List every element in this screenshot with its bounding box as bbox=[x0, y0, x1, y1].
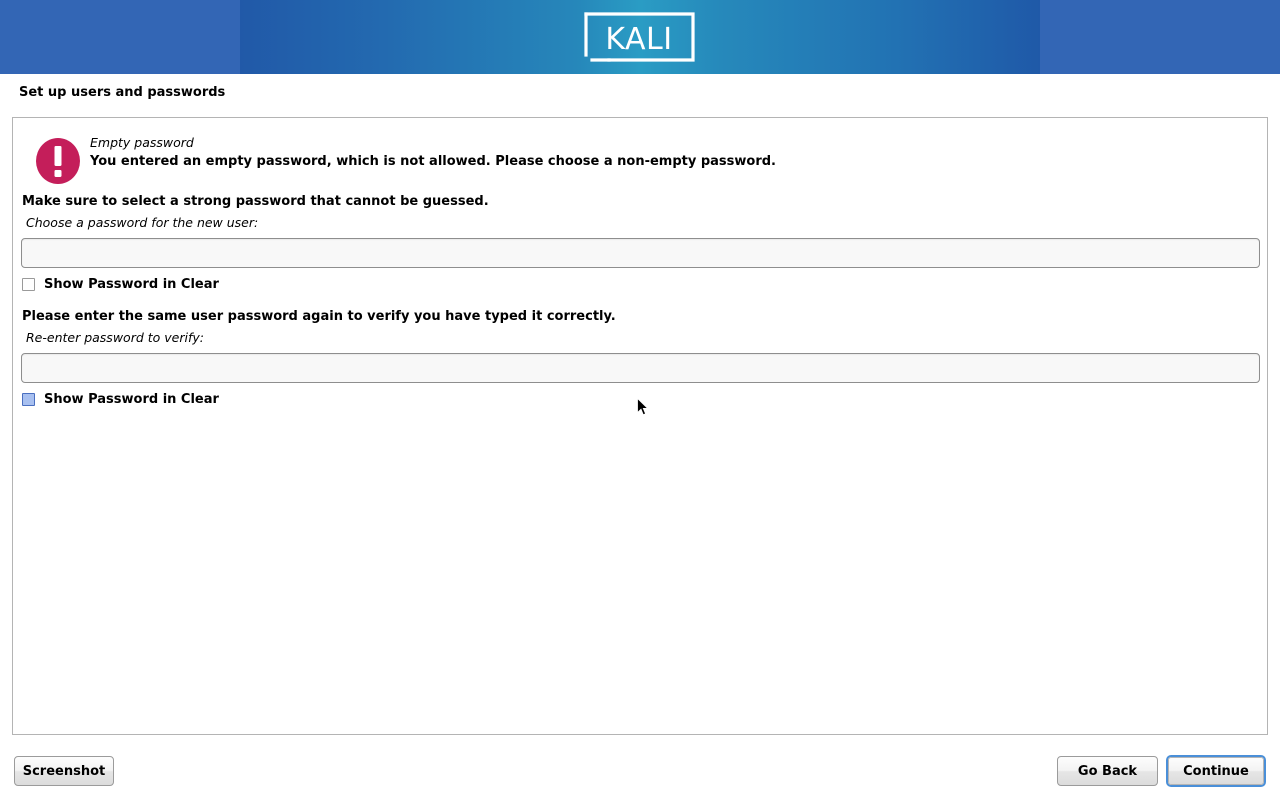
show-password-checkbox-2[interactable] bbox=[22, 393, 35, 406]
verify-field-label: Re-enter password to verify: bbox=[26, 330, 204, 345]
show-password-checkbox-row-2[interactable]: Show Password in Clear bbox=[22, 392, 219, 407]
kali-banner: KALI bbox=[0, 0, 1280, 74]
screenshot-button[interactable]: Screenshot bbox=[14, 756, 114, 786]
verify-password-input[interactable] bbox=[21, 353, 1260, 383]
continue-button-label: Continue bbox=[1168, 757, 1264, 785]
show-password-label-2: Show Password in Clear bbox=[44, 392, 219, 407]
main-content-panel: Empty password You entered an empty pass… bbox=[12, 117, 1268, 735]
page-title: Set up users and passwords bbox=[19, 85, 225, 100]
password-input[interactable] bbox=[21, 238, 1260, 268]
error-message: You entered an empty password, which is … bbox=[90, 154, 776, 169]
svg-text:KALI: KALI bbox=[605, 22, 672, 57]
password-field-label: Choose a password for the new user: bbox=[26, 215, 258, 230]
error-exclamation-icon bbox=[34, 137, 82, 185]
show-password-label-1: Show Password in Clear bbox=[44, 277, 219, 292]
show-password-checkbox-1[interactable] bbox=[22, 278, 35, 291]
installer-screen: KALI Set up users and passwords Empty pa… bbox=[0, 0, 1280, 800]
error-title: Empty password bbox=[90, 135, 194, 150]
continue-button[interactable]: Continue bbox=[1166, 755, 1266, 787]
verify-password-note: Please enter the same user password agai… bbox=[22, 309, 616, 324]
strong-password-note: Make sure to select a strong password th… bbox=[22, 194, 489, 209]
go-back-button[interactable]: Go Back bbox=[1057, 756, 1158, 786]
show-password-checkbox-row-1[interactable]: Show Password in Clear bbox=[22, 277, 219, 292]
kali-logo-icon: KALI bbox=[583, 11, 696, 63]
